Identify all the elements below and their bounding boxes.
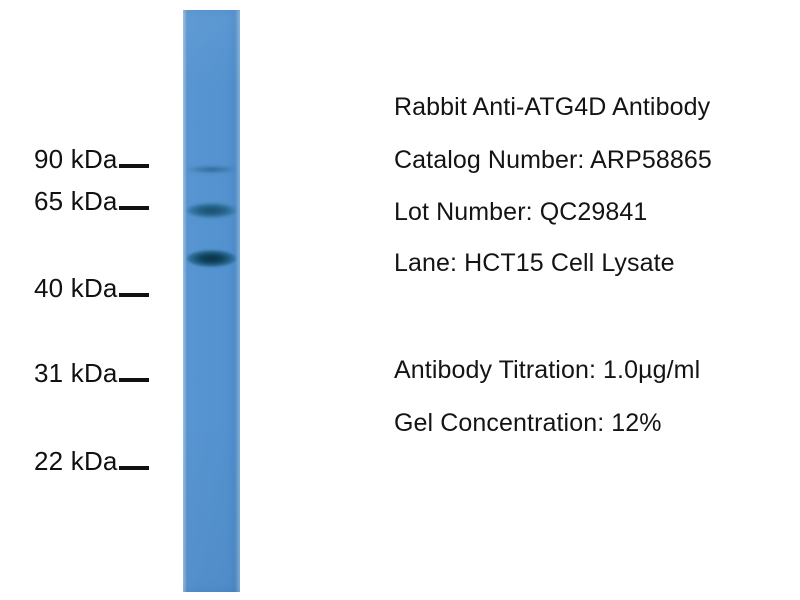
ladder-label: 65 kDa — [34, 186, 118, 217]
ladder-label: 40 kDa — [34, 273, 118, 304]
ladder-tick-mark — [119, 164, 149, 168]
ladder-tick-mark — [119, 293, 149, 297]
ladder-tick-mark — [119, 378, 149, 382]
ladder-tick-mark — [119, 206, 149, 210]
catalog-number: Catalog Number: ARP58865 — [394, 146, 712, 175]
antibody-titration: Antibody Titration: 1.0µg/ml — [394, 356, 700, 385]
antibody-name: Rabbit Anti-ATG4D Antibody — [394, 93, 710, 122]
ladder-marker-40: 40 kDa — [34, 273, 149, 304]
ladder-marker-22: 22 kDa — [34, 446, 149, 477]
ladder-marker-31: 31 kDa — [34, 358, 149, 389]
ladder-marker-90: 90 kDa — [34, 144, 149, 175]
ladder-label: 22 kDa — [34, 446, 118, 477]
ladder-tick-mark — [119, 466, 149, 470]
gel-concentration: Gel Concentration: 12% — [394, 409, 662, 438]
ladder-label: 31 kDa — [34, 358, 118, 389]
ladder-marker-65: 65 kDa — [34, 186, 149, 217]
protein-band-50 — [187, 250, 236, 267]
lane-description: Lane: HCT15 Cell Lysate — [394, 249, 675, 278]
protein-band-90 — [187, 165, 236, 174]
lot-number: Lot Number: QC29841 — [394, 198, 647, 227]
ladder-label: 90 kDa — [34, 144, 118, 175]
protein-band-65 — [187, 203, 236, 218]
gel-lane-hct15 — [183, 10, 240, 592]
western-blot-figure: 90 kDa65 kDa40 kDa31 kDa22 kDa Rabbit An… — [0, 0, 800, 600]
